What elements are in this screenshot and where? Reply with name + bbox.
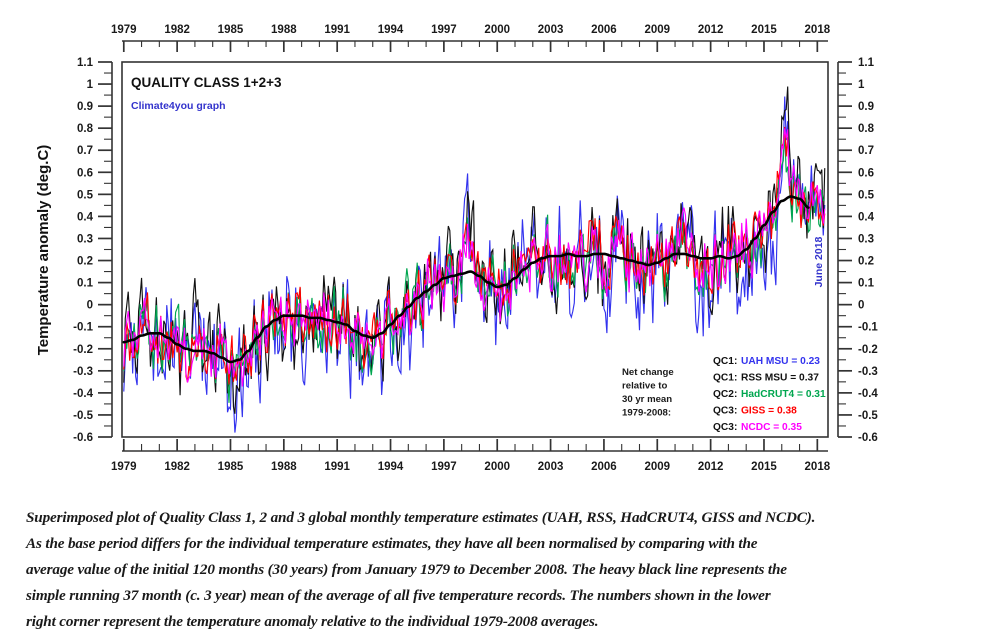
svg-text:0.9: 0.9 [77, 101, 93, 113]
svg-text:0.4: 0.4 [77, 211, 94, 223]
svg-text:0.8: 0.8 [77, 123, 94, 135]
legend-entry-rss-msu: QC1:RSS MSU = 0.37 [713, 373, 819, 384]
svg-text:-0.2: -0.2 [858, 344, 878, 356]
svg-text:1991: 1991 [324, 24, 350, 36]
svg-text:2015: 2015 [751, 461, 777, 473]
legend-series-value: RSS MSU = 0.37 [741, 373, 819, 384]
svg-text:-0.5: -0.5 [73, 410, 93, 422]
legend-entry-giss: QC3:GISS = 0.38 [713, 406, 797, 417]
svg-text:2000: 2000 [484, 24, 510, 36]
svg-text:-0.6: -0.6 [73, 432, 93, 444]
legend-quality-class: QC1: [713, 373, 737, 384]
svg-text:-0.1: -0.1 [858, 322, 878, 334]
svg-text:0.8: 0.8 [858, 123, 875, 135]
legend-entry-ncdc: QC3:NCDC = 0.35 [713, 422, 802, 433]
svg-text:0.4: 0.4 [858, 211, 875, 223]
svg-text:0: 0 [858, 300, 864, 312]
caption-line: Superimposed plot of Quality Class 1, 2 … [26, 505, 974, 531]
svg-text:1979: 1979 [111, 461, 137, 473]
legend-series-value: GISS = 0.38 [741, 406, 797, 417]
svg-text:0.2: 0.2 [858, 256, 874, 268]
figure-caption: Superimposed plot of Quality Class 1, 2 … [26, 505, 974, 635]
svg-text:0.3: 0.3 [858, 233, 874, 245]
temperature-anomaly-chart: 1979198219851988199119941997200020032006… [0, 0, 1000, 495]
credit-label: Climate4you graph [131, 100, 226, 112]
svg-text:1994: 1994 [378, 461, 404, 473]
svg-text:2018: 2018 [805, 461, 831, 473]
svg-text:2009: 2009 [644, 24, 670, 36]
figure-page: 1979198219851988199119941997200020032006… [0, 0, 1000, 642]
legend-quality-class: QC2: [713, 389, 737, 400]
note-line: 30 yr mean [622, 394, 672, 405]
caption-line: simple running 37 month (c. 3 year) mean… [26, 583, 974, 609]
legend-quality-class: QC3: [713, 406, 737, 417]
svg-text:0.7: 0.7 [77, 145, 93, 157]
svg-text:-0.2: -0.2 [73, 344, 93, 356]
svg-text:0.3: 0.3 [77, 233, 93, 245]
svg-text:1982: 1982 [164, 461, 190, 473]
svg-text:-0.3: -0.3 [858, 366, 878, 378]
caption-line: As the base period differs for the indiv… [26, 531, 974, 557]
svg-text:1991: 1991 [324, 461, 350, 473]
svg-text:-0.3: -0.3 [73, 366, 93, 378]
svg-text:1: 1 [87, 79, 94, 91]
svg-text:2000: 2000 [484, 461, 510, 473]
svg-text:-0.4: -0.4 [73, 388, 93, 400]
chart-title: QUALITY CLASS 1+2+3 [131, 75, 282, 90]
svg-text:1985: 1985 [218, 461, 244, 473]
svg-text:0.5: 0.5 [858, 189, 875, 201]
caption-line: average value of the initial 120 months … [26, 557, 974, 583]
caption-line: right corner represent the temperature a… [26, 609, 974, 635]
note-line: relative to [622, 381, 667, 392]
svg-text:1979: 1979 [111, 24, 137, 36]
svg-text:0.5: 0.5 [77, 189, 94, 201]
legend-quality-class: QC3: [713, 422, 737, 433]
end-date-label: June 2018 [813, 236, 825, 287]
chart-canvas: 1979198219851988199119941997200020032006… [0, 0, 1000, 495]
svg-text:1997: 1997 [431, 461, 457, 473]
svg-text:1985: 1985 [218, 24, 244, 36]
svg-text:2012: 2012 [698, 24, 724, 36]
svg-text:2012: 2012 [698, 461, 724, 473]
svg-text:-0.6: -0.6 [858, 432, 878, 444]
svg-text:2003: 2003 [538, 461, 564, 473]
svg-text:1997: 1997 [431, 24, 457, 36]
svg-text:2009: 2009 [644, 461, 670, 473]
svg-text:2015: 2015 [751, 24, 777, 36]
svg-text:2003: 2003 [538, 24, 564, 36]
legend-quality-class: QC1: [713, 356, 737, 367]
svg-text:1.1: 1.1 [77, 57, 94, 69]
svg-text:1: 1 [858, 79, 865, 91]
legend-series-value: UAH MSU = 0.23 [741, 356, 820, 367]
svg-text:1.1: 1.1 [858, 57, 875, 69]
svg-text:0: 0 [87, 300, 93, 312]
legend-entry-hadcrut4: QC2:HadCRUT4 = 0.31 [713, 389, 826, 400]
svg-text:1982: 1982 [164, 24, 190, 36]
y-axis-title: Temperature anomaly (deg.C) [35, 145, 52, 356]
svg-text:0.7: 0.7 [858, 145, 874, 157]
svg-text:1988: 1988 [271, 461, 297, 473]
legend-series-value: NCDC = 0.35 [741, 422, 802, 433]
svg-text:-0.1: -0.1 [73, 322, 93, 334]
legend-entry-uah-msu: QC1:UAH MSU = 0.23 [713, 356, 820, 367]
svg-text:2006: 2006 [591, 461, 617, 473]
note-line: 1979-2008: [622, 408, 671, 419]
svg-text:0.9: 0.9 [858, 101, 874, 113]
svg-text:2006: 2006 [591, 24, 617, 36]
svg-text:-0.5: -0.5 [858, 410, 878, 422]
legend-series-value: HadCRUT4 = 0.31 [741, 389, 826, 400]
svg-text:1988: 1988 [271, 24, 297, 36]
svg-text:0.2: 0.2 [77, 256, 93, 268]
svg-text:1994: 1994 [378, 24, 404, 36]
svg-text:0.6: 0.6 [858, 167, 874, 179]
svg-text:0.6: 0.6 [77, 167, 93, 179]
svg-text:0.1: 0.1 [77, 278, 94, 290]
svg-text:2018: 2018 [805, 24, 831, 36]
note-line: Net change [622, 367, 674, 378]
svg-text:-0.4: -0.4 [858, 388, 878, 400]
svg-text:0.1: 0.1 [858, 278, 875, 290]
